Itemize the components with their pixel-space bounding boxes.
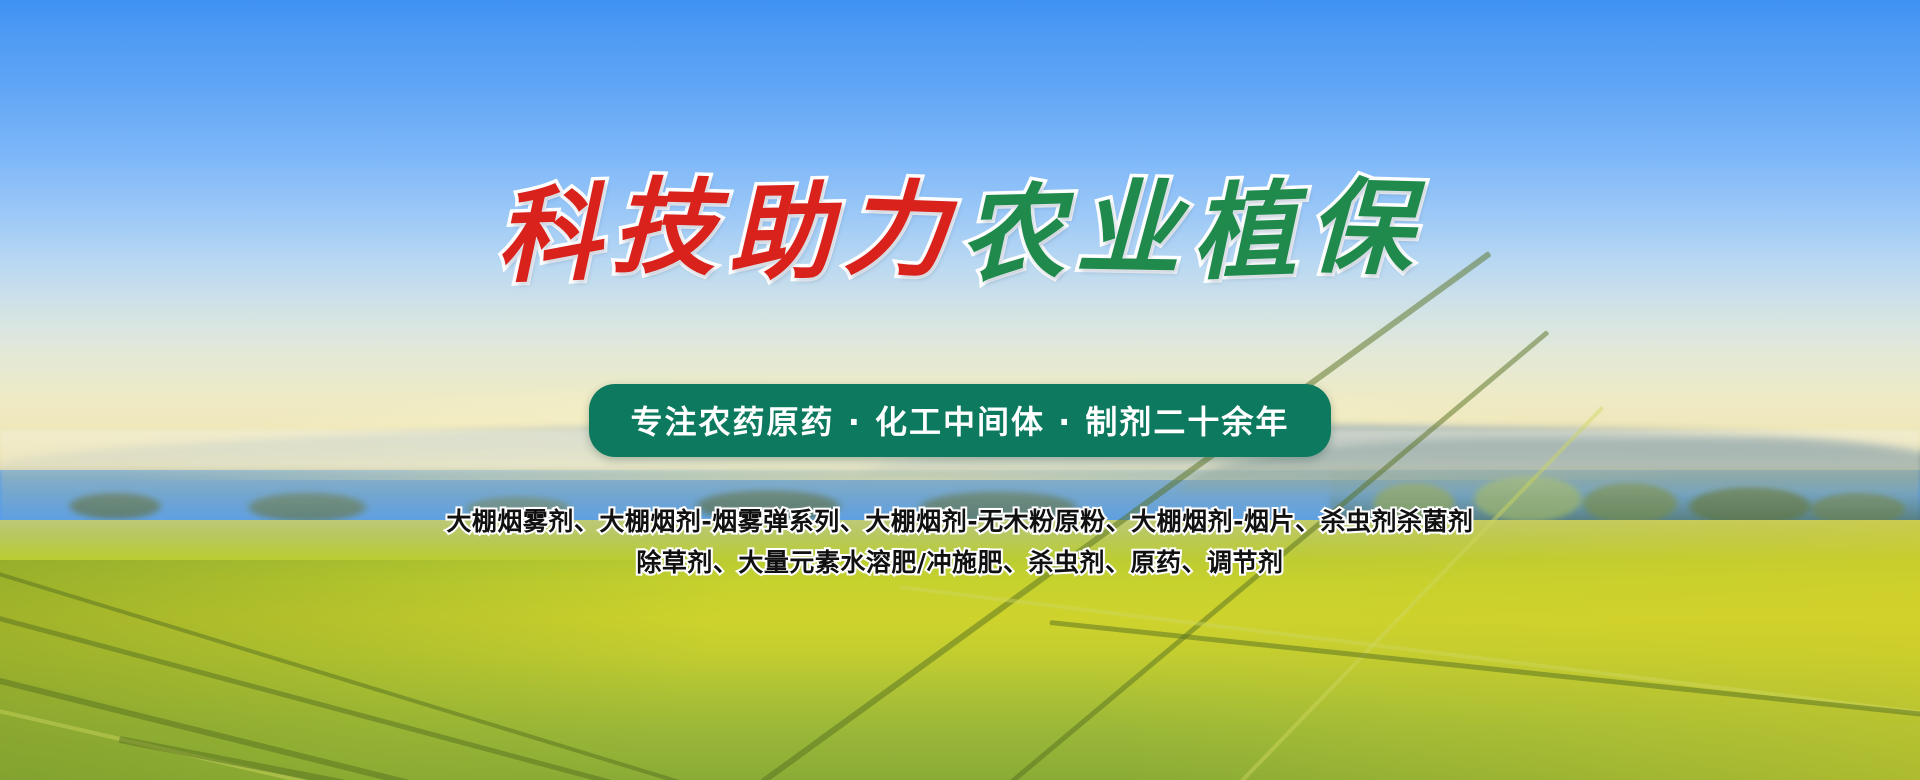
title-char-4: 力	[842, 175, 962, 288]
title-char-5: 农	[959, 179, 1078, 291]
title-char-3: 助	[727, 179, 845, 290]
tagline-badge: 专注农药原药 · 化工中间体 · 制剂二十余年	[589, 384, 1332, 457]
title-char-7: 植	[1190, 177, 1310, 290]
field-shadow-left	[0, 560, 900, 780]
badge-container: 专注农药原药 · 化工中间体 · 制剂二十余年	[0, 384, 1920, 457]
title-char-6: 业	[1075, 175, 1193, 286]
banner-title: 科技助力农业植保	[0, 178, 1920, 287]
title-char-2: 技	[611, 174, 730, 286]
hero-banner: 科技助力农业植保 专注农药原药 · 化工中间体 · 制剂二十余年 大棚烟雾剂、大…	[0, 0, 1920, 780]
title-char-1: 科	[494, 180, 614, 293]
title-char-8: 保	[1307, 174, 1426, 286]
product-list-line-2: 除草剂、大量元素水溶肥/冲施肥、杀虫剂、原药、调节剂	[0, 543, 1920, 579]
product-list-line-1: 大棚烟雾剂、大棚烟剂-烟雾弹系列、大棚烟剂-无木粉原粉、大棚烟剂-烟片、杀虫剂杀…	[0, 502, 1920, 538]
